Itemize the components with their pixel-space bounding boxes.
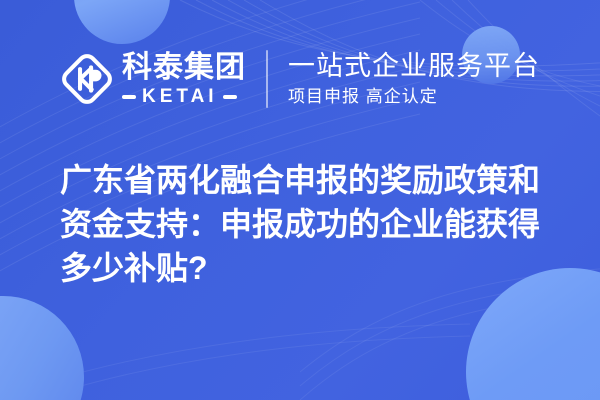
banner-header: 科泰集团 KETAI 一站式企业服务平台 项目申报 高企认定 xyxy=(0,44,600,114)
brand-name-en: KETAI xyxy=(142,87,218,107)
brand-dash-left xyxy=(122,95,136,99)
brand-lockup: 科泰集团 KETAI xyxy=(58,50,246,108)
slogan-block: 一站式企业服务平台 项目申报 高企认定 xyxy=(288,50,540,108)
ketai-diamond-kp-logo-icon xyxy=(58,50,116,108)
promo-banner: 科泰集团 KETAI 一站式企业服务平台 项目申报 高企认定 广东省两化融合申报… xyxy=(0,0,600,400)
brand-dash-right xyxy=(223,95,237,99)
slogan-main-text: 一站式企业服务平台 xyxy=(288,50,540,82)
header-divider xyxy=(266,50,268,108)
brand-name-en-row: KETAI xyxy=(122,87,246,107)
brand-name-cn: 科泰集团 xyxy=(122,52,246,84)
banner-headline: 广东省两化融合申报的奖励政策和资金支持：申报成功的企业能获得多少补贴? xyxy=(60,158,558,290)
brand-text: 科泰集团 KETAI xyxy=(122,52,246,107)
slogan-sub-text: 项目申报 高企认定 xyxy=(288,86,540,108)
